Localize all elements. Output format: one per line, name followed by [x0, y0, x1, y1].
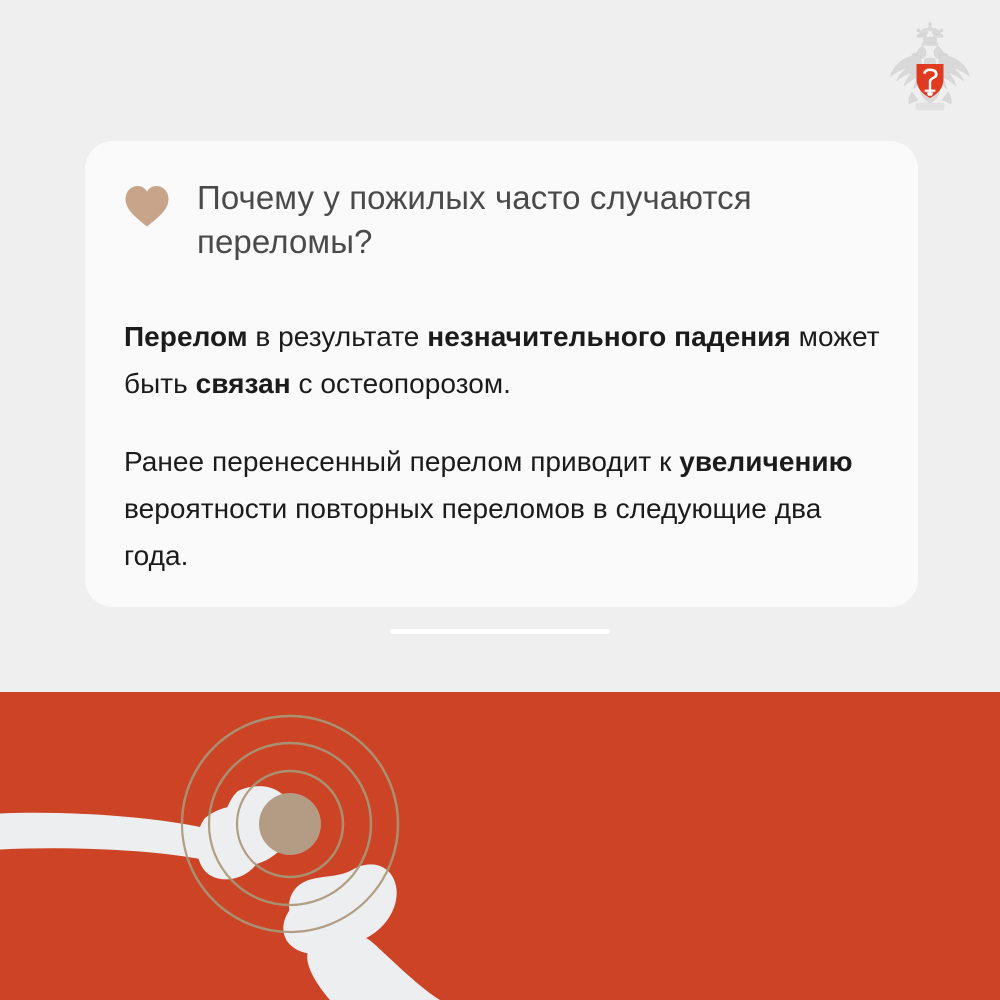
regular-text: с остеопорозом.	[291, 368, 511, 399]
emphasis-text: связан	[196, 368, 291, 399]
regular-text: вероятности повторных переломов в следую…	[124, 493, 821, 571]
emphasis-text: незначительного падения	[427, 321, 791, 352]
shield	[917, 64, 944, 98]
ministry-of-health-emblem	[882, 22, 978, 114]
top-content-area: Почему у пожилых часто случаются перелом…	[0, 0, 1000, 692]
slide-progress-bar[interactable]	[390, 629, 610, 634]
regular-text: Ранее перенесенный перелом приводит к	[124, 446, 679, 477]
regular-text: в результате	[248, 321, 428, 352]
bone-joint-illustration	[0, 692, 1000, 1000]
page-title: Почему у пожилых часто случаются перелом…	[197, 176, 877, 264]
heart-icon	[124, 184, 170, 228]
body-paragraph-1: Перелом в результате незначительного пад…	[124, 313, 882, 407]
body-paragraph-2: Ранее перенесенный перелом приводит к ув…	[124, 438, 882, 579]
info-card: Почему у пожилых часто случаются перелом…	[85, 141, 918, 607]
joint-center	[259, 793, 321, 855]
emphasis-text: увеличению	[679, 446, 852, 477]
card-heading-row: Почему у пожилых часто случаются перелом…	[124, 176, 878, 264]
emphasis-text: Перелом	[124, 321, 248, 352]
